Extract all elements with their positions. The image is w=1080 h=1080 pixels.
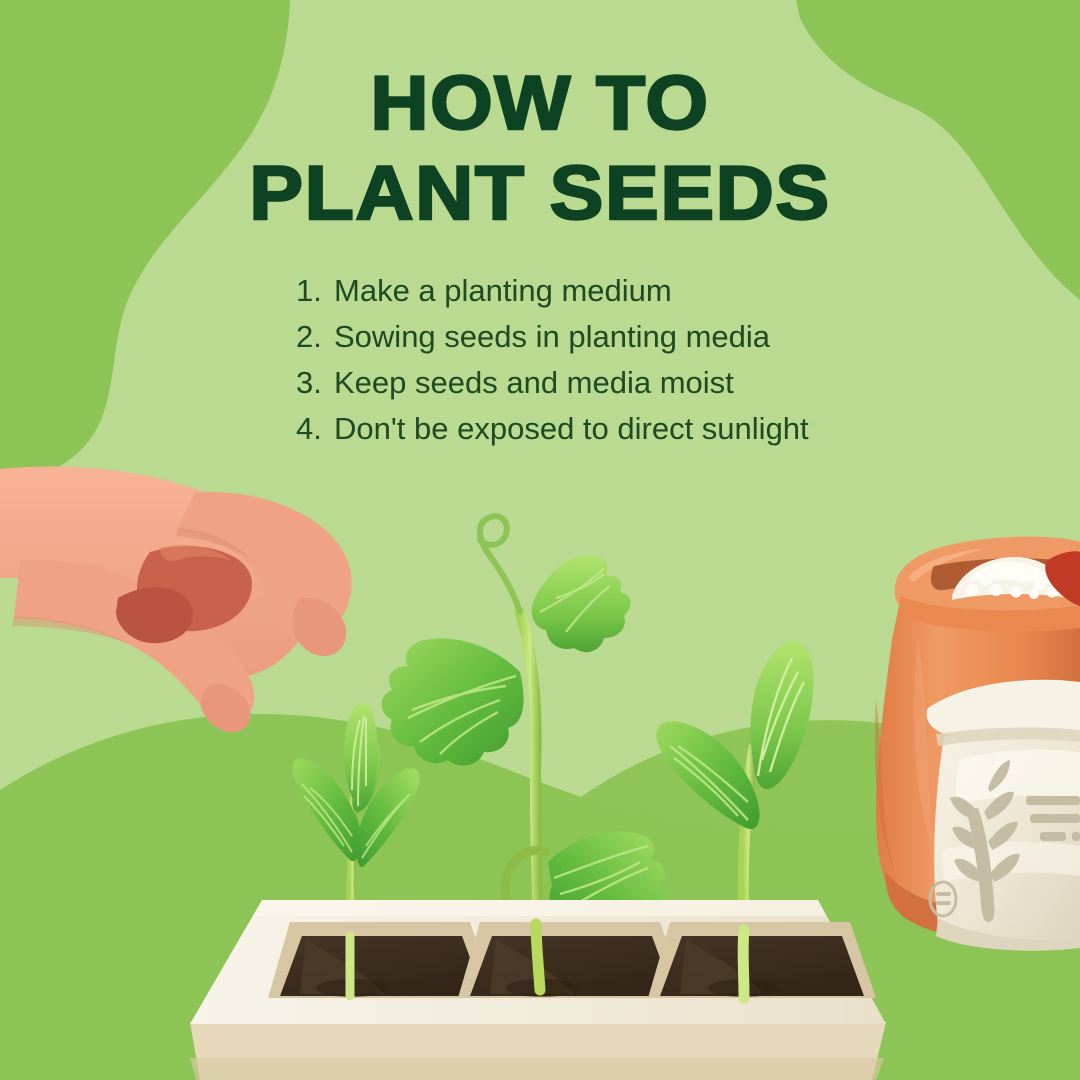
tray-cell — [648, 922, 876, 998]
list-item-label: Don't be exposed to direct sunlight — [334, 406, 996, 452]
page-title: HOW TO PLANT SEEDS — [0, 62, 1080, 236]
list-item-number: 3. — [296, 360, 334, 406]
list-item: 3. Keep seeds and media moist — [296, 360, 996, 406]
steps-list: 1. Make a planting medium 2. Sowing seed… — [296, 268, 996, 452]
list-item: 1. Make a planting medium — [296, 268, 996, 314]
list-item: 4. Don't be exposed to direct sunlight — [296, 406, 996, 452]
list-item-number: 4. — [296, 406, 334, 452]
list-item-label: Make a planting medium — [334, 268, 996, 314]
list-item-label: Sowing seeds in planting media — [334, 314, 996, 360]
seed-packet — [927, 680, 1080, 951]
list-item-number: 2. — [296, 314, 334, 360]
infographic-poster: HOW TO PLANT SEEDS 1. Make a planting me… — [0, 0, 1080, 1080]
list-item-label: Keep seeds and media moist — [334, 360, 996, 406]
list-item: 2. Sowing seeds in planting media — [296, 314, 996, 360]
title-line-2: PLANT SEEDS — [0, 152, 1080, 236]
list-item-number: 1. — [296, 268, 334, 314]
title-line-1: HOW TO — [0, 62, 1080, 146]
